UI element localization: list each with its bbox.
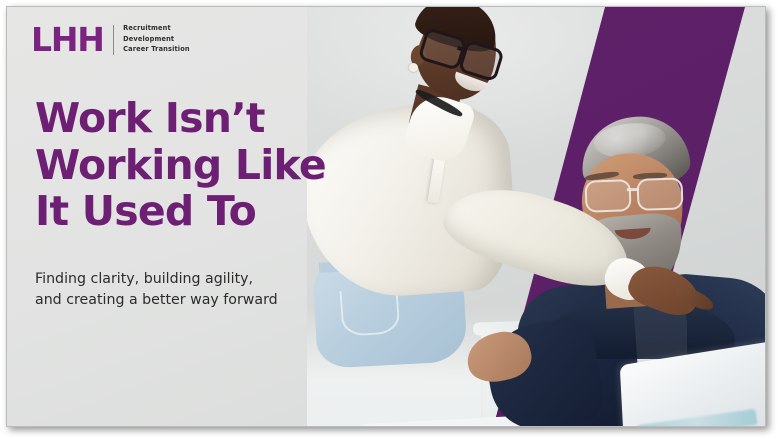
woman-earring [409, 63, 418, 72]
lhh-logo: LHH Recruitment Development Career Trans… [31, 23, 190, 56]
hero-photo [275, 7, 766, 427]
logo-tagline-line-1: Recruitment [123, 24, 190, 33]
logo-divider [113, 25, 115, 55]
logo-tagline-line-3: Career Transition [123, 45, 190, 54]
logo-tagline: Recruitment Development Career Transitio… [123, 24, 190, 54]
man-glasses-icon [581, 177, 690, 211]
man-lens-right [636, 177, 683, 211]
logo-tagline-line-2: Development [123, 35, 190, 44]
page-title: Work Isn’t Working Like It Used To [35, 95, 335, 235]
logo-wordmark: LHH [31, 23, 104, 56]
page-subtitle: Finding clarity, building agility, and c… [35, 269, 325, 311]
man-lens-left [585, 179, 632, 213]
text-panel: LHH Recruitment Development Career Trans… [7, 7, 307, 427]
slide-frame: LHH Recruitment Development Career Trans… [6, 6, 766, 427]
